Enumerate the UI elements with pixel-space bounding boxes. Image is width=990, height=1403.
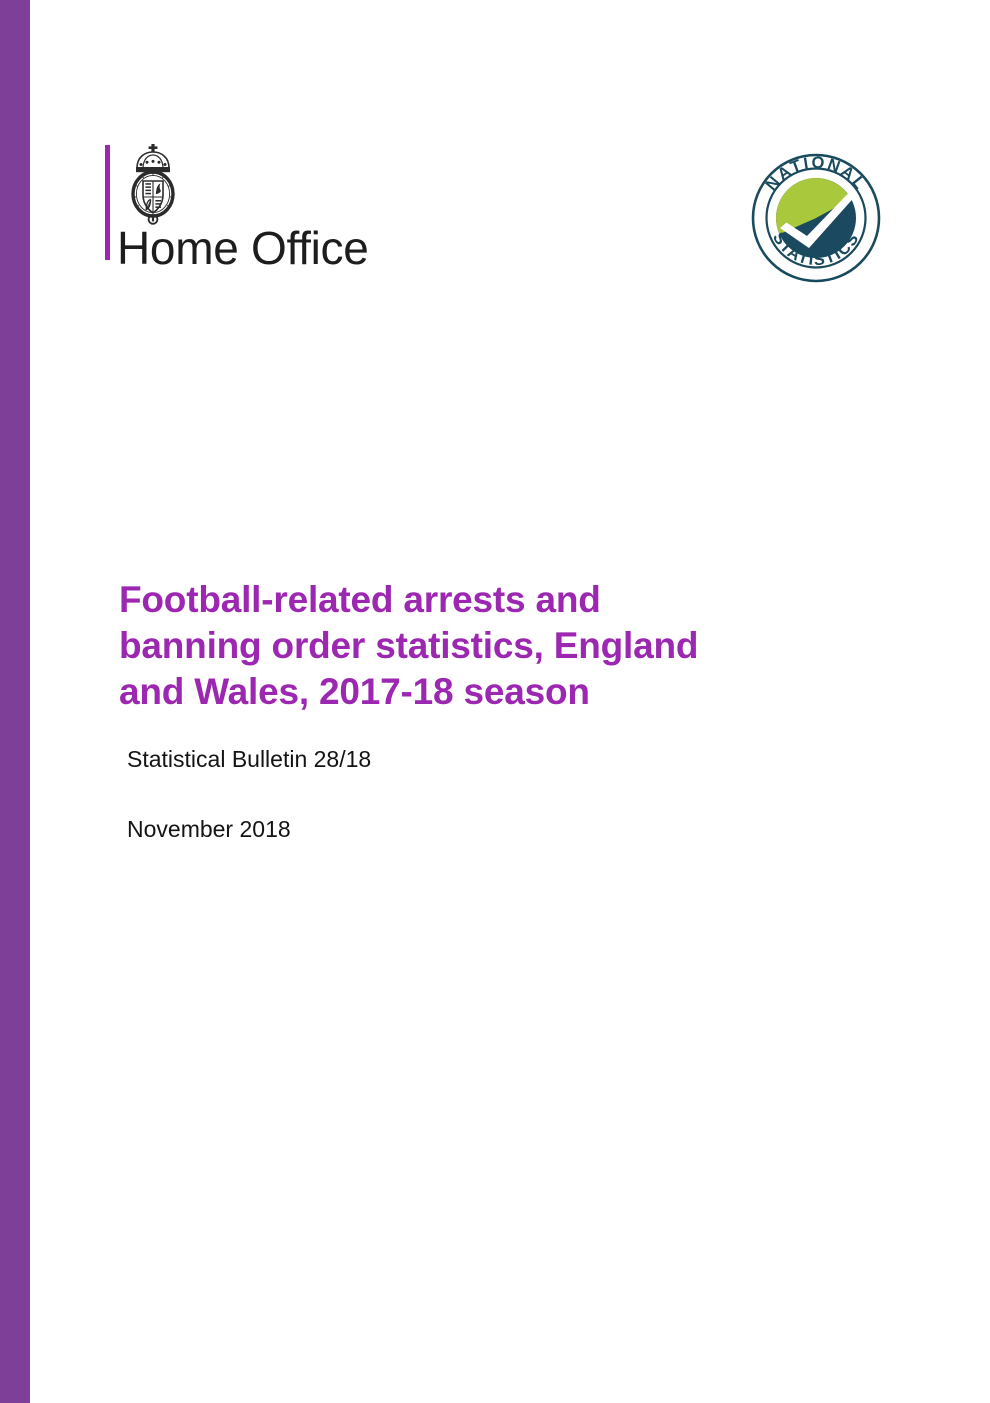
publication-date: November 2018 [127, 818, 291, 841]
title-line-3: and Wales, 2017-18 season [119, 669, 879, 715]
national-statistics-logo: NATIONAL STATISTICS [750, 152, 882, 284]
page-title: Football-related arrests and banning ord… [119, 577, 879, 715]
home-office-vertical-rule [105, 145, 110, 260]
home-office-logo: Home Office [105, 143, 525, 273]
title-line-1: Football-related arrests and [119, 577, 879, 623]
royal-coat-of-arms-icon [125, 143, 181, 229]
left-purple-spine [0, 0, 30, 1403]
home-office-wordmark: Home Office [117, 225, 369, 271]
bulletin-number: Statistical Bulletin 28/18 [127, 748, 371, 771]
title-line-2: banning order statistics, England [119, 623, 879, 669]
